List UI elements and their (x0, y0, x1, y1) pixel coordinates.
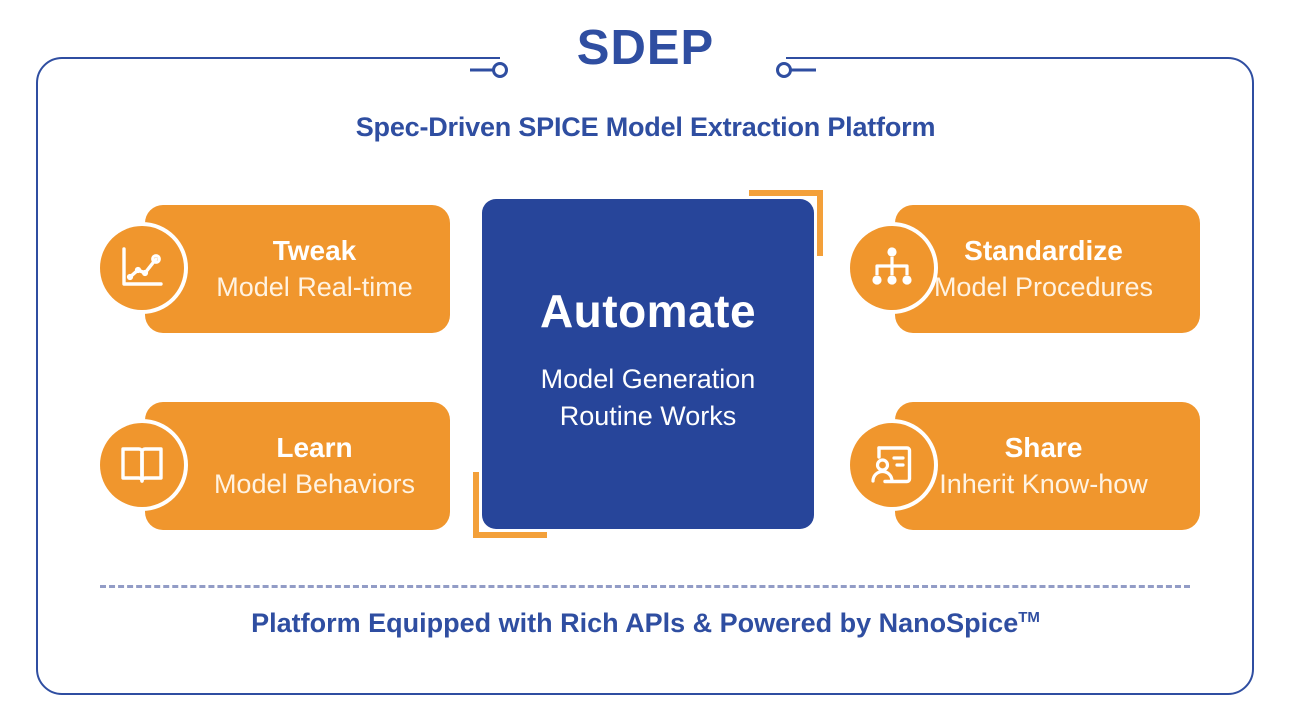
hero-subtext-line-2: Routine Works (541, 398, 756, 435)
hierarchy-icon (869, 246, 915, 290)
title-block: SDEP (0, 0, 1291, 120)
footer-caption-text: Platform Equipped with Rich APls & Power… (251, 608, 1018, 638)
hero-block: Automate Model Generation Routine Works (482, 199, 814, 529)
id-card-person-icon (869, 443, 915, 487)
feature-card-standardize-sub: Model Procedures (934, 269, 1153, 305)
feature-card-standardize-text: Standardize Model Procedures (901, 205, 1186, 333)
hero-card-automate: Automate Model Generation Routine Works (482, 199, 814, 529)
feature-card-learn-heading: Learn (276, 430, 352, 466)
feature-card-tweak-text: Tweak Model Real-time (185, 205, 444, 333)
feature-card-tweak: Tweak Model Real-time (145, 205, 450, 333)
footer-caption: Platform Equipped with Rich APls & Power… (0, 608, 1291, 639)
feature-card-learn: Learn Model Behaviors (145, 402, 450, 530)
feature-card-share-text: Share Inherit Know-how (901, 402, 1186, 530)
hierarchy-icon-medallion (850, 226, 934, 310)
trademark-symbol: TM (1018, 609, 1040, 626)
feature-card-share-heading: Share (1005, 430, 1083, 466)
feature-card-share: Share Inherit Know-how (895, 402, 1200, 530)
hero-subtext: Model Generation Routine Works (541, 361, 756, 435)
feature-card-tweak-sub: Model Real-time (216, 269, 413, 305)
feature-card-learn-text: Learn Model Behaviors (185, 402, 444, 530)
feature-card-learn-sub: Model Behaviors (214, 466, 415, 502)
line-chart-icon-medallion (100, 226, 184, 310)
page-title: SDEP (0, 20, 1291, 76)
hero-subtext-line-1: Model Generation (541, 361, 756, 398)
page-subtitle: Spec-Driven SPICE Model Extraction Platf… (0, 112, 1291, 143)
feature-card-tweak-heading: Tweak (273, 233, 357, 269)
open-book-icon-medallion (100, 423, 184, 507)
open-book-icon (119, 444, 165, 486)
hero-heading: Automate (540, 285, 756, 337)
dashed-divider (100, 585, 1190, 588)
feature-card-share-sub: Inherit Know-how (939, 466, 1148, 502)
line-chart-icon (119, 246, 165, 290)
id-card-person-icon-medallion (850, 423, 934, 507)
feature-card-standardize: Standardize Model Procedures (895, 205, 1200, 333)
feature-card-standardize-heading: Standardize (964, 233, 1123, 269)
